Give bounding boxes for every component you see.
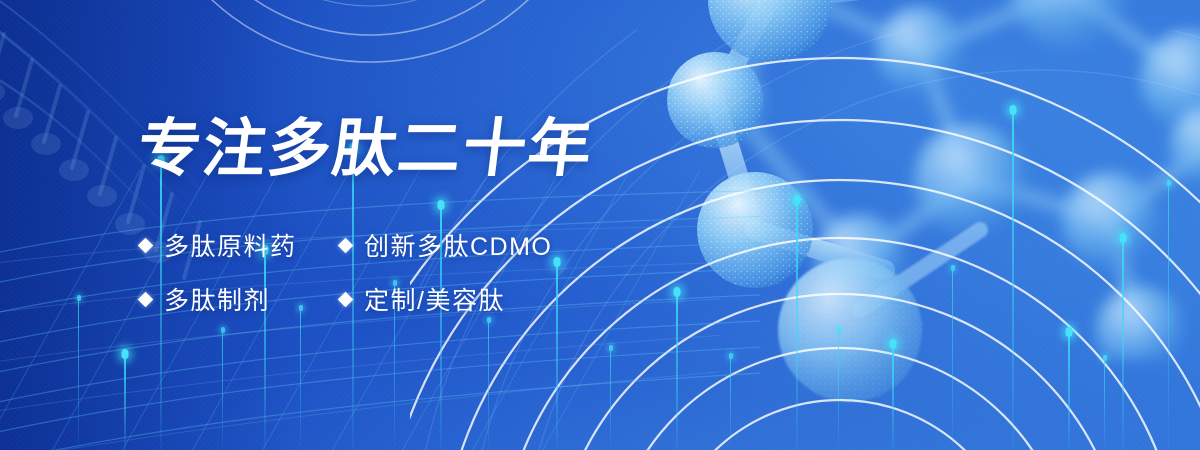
feature-label: 创新多肽CDMO: [364, 227, 552, 263]
diamond-bullet-icon: [338, 237, 354, 253]
peptide-hero-banner: 专注多肽二十年 多肽原料药 创新多肽CDMO 多肽制剂: [0, 0, 1200, 450]
diamond-bullet-icon: [138, 237, 154, 253]
feature-item-custom-cosmetic[interactable]: 定制/美容肽: [340, 281, 505, 317]
diamond-bullet-icon: [338, 291, 354, 307]
feature-row: 多肽原料药 创新多肽CDMO: [140, 218, 552, 272]
feature-item-formulation[interactable]: 多肽制剂: [140, 281, 340, 317]
feature-list: 多肽原料药 创新多肽CDMO 多肽制剂 定制/美容肽: [140, 218, 552, 326]
feature-item-api[interactable]: 多肽原料药: [140, 227, 340, 263]
feature-label: 多肽原料药: [164, 227, 297, 263]
banner-content: 专注多肽二十年 多肽原料药 创新多肽CDMO 多肽制剂: [0, 0, 1200, 450]
feature-row: 多肽制剂 定制/美容肽: [140, 272, 552, 326]
feature-label: 多肽制剂: [164, 281, 270, 317]
page-title: 专注多肽二十年: [134, 118, 597, 181]
feature-label: 定制/美容肽: [364, 281, 505, 317]
feature-item-cdmo[interactable]: 创新多肽CDMO: [340, 227, 552, 263]
diamond-bullet-icon: [138, 291, 154, 307]
